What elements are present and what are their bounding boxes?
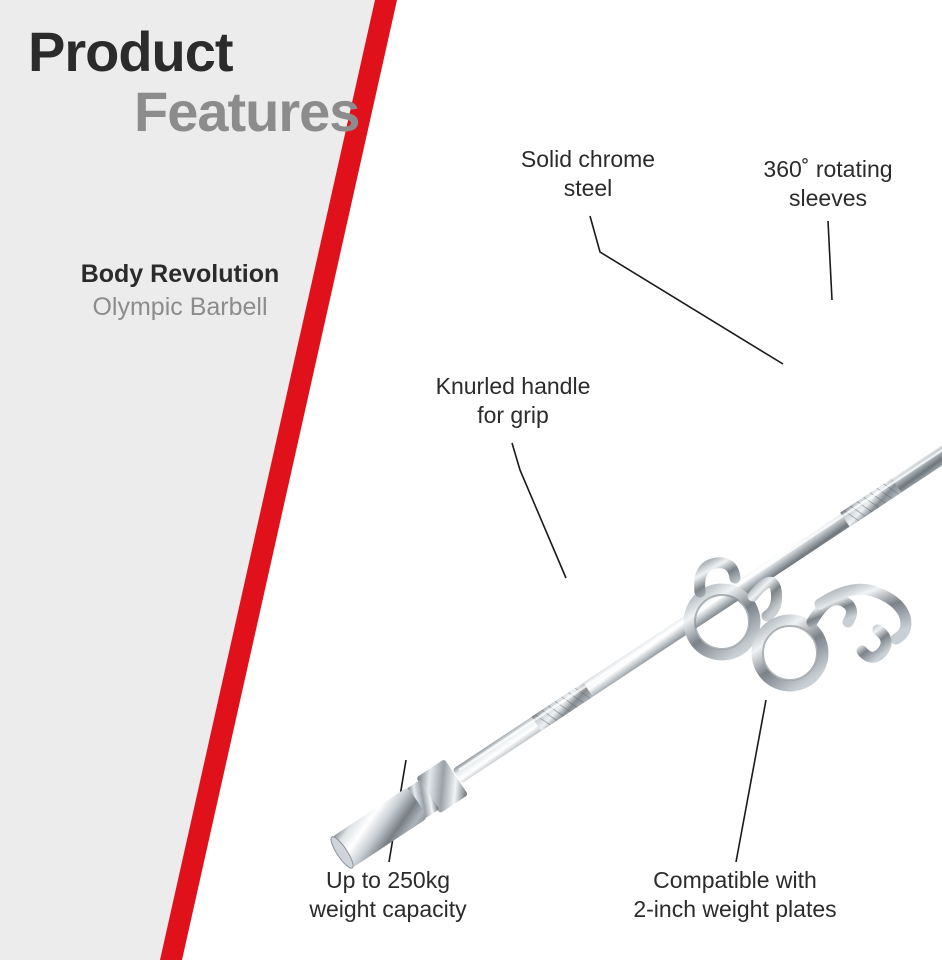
leader-knurled-handle bbox=[512, 443, 566, 578]
callout-plate-compatibility: Compatible with 2-inch weight plates bbox=[590, 866, 880, 924]
callout-solid-chrome-steel: Solid chrome steel bbox=[468, 145, 708, 203]
sleeve-left bbox=[331, 787, 428, 869]
knurl-band-right bbox=[840, 478, 901, 526]
barbell-shaft bbox=[452, 427, 942, 783]
callout-weight-capacity: Up to 250kg weight capacity bbox=[268, 866, 508, 924]
knurl-band-left bbox=[532, 683, 593, 731]
left-grey-panel bbox=[0, 0, 430, 960]
knurl-hatching bbox=[535, 480, 899, 729]
leader-weight-capacity bbox=[389, 760, 406, 862]
leader-rotating-sleeves bbox=[828, 221, 832, 300]
spring-clip-right bbox=[757, 589, 906, 686]
shaft-highlight bbox=[458, 432, 942, 771]
product-model: Olympic Barbell bbox=[0, 291, 360, 324]
callout-rotating-sleeves: 360˚ rotating sleeves bbox=[718, 155, 938, 213]
product-name-block: Body Revolution Olympic Barbell bbox=[0, 258, 360, 324]
title-line-product: Product bbox=[28, 22, 428, 82]
collar-left-inner bbox=[407, 780, 440, 818]
collar-left bbox=[416, 759, 468, 814]
leader-plate-compatibility bbox=[736, 700, 766, 862]
spring-collar-clips bbox=[689, 563, 906, 686]
callout-knurled-handle: Knurled handle for grip bbox=[398, 372, 628, 430]
product-brand: Body Revolution bbox=[0, 258, 360, 291]
product-features-infographic: Product Features Body Revolution Olympic… bbox=[0, 0, 942, 960]
spring-clip-left bbox=[689, 563, 777, 655]
leader-lines bbox=[389, 216, 832, 862]
page-title: Product Features bbox=[28, 22, 428, 142]
leader-solid-chrome-steel bbox=[590, 216, 783, 364]
title-line-features: Features bbox=[134, 82, 428, 142]
